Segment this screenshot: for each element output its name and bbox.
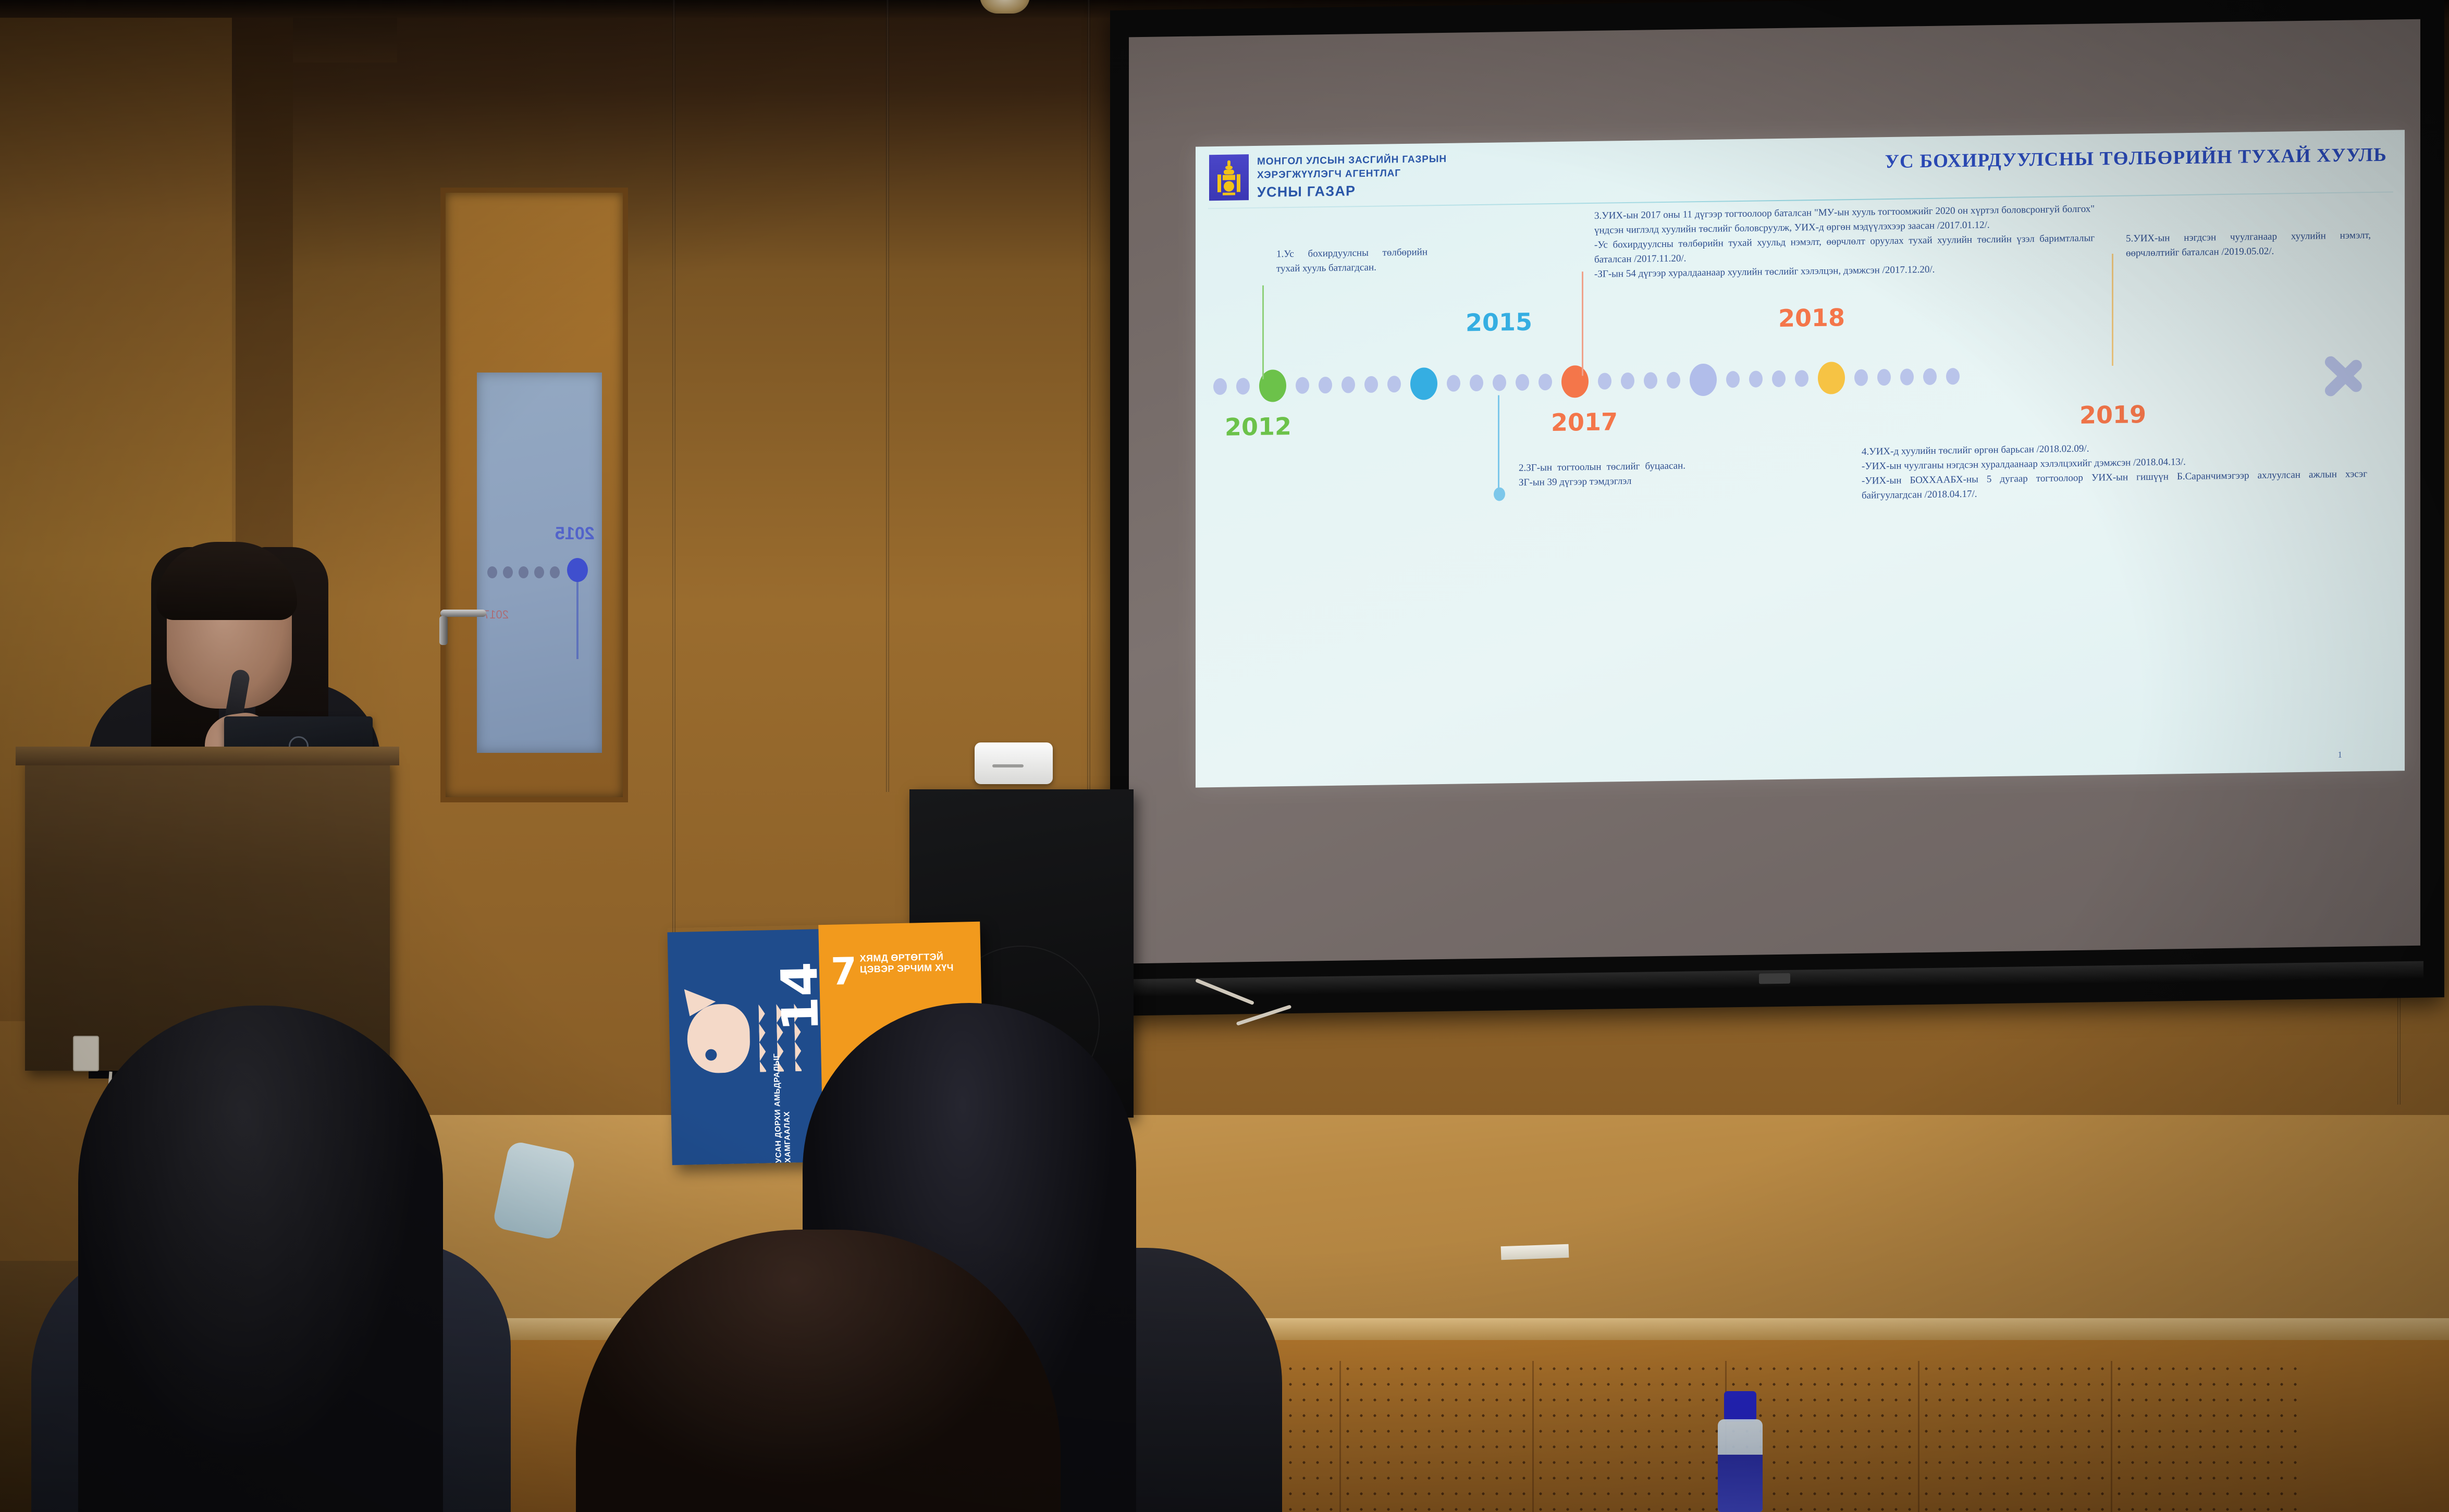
sdg-number-7: 7 [830,949,857,994]
timeline-filler-dot [1213,378,1227,395]
milestone-note-2017: 3.УИХ-ын 2017 оны 11 дүгээр тогтоолоор б… [1594,202,2095,281]
audience-member-head [78,1006,443,1512]
wall-seam [886,0,889,792]
screen-roller-knob[interactable] [1759,973,1790,984]
timeline-filler-dot [1387,376,1401,392]
acoustic-panel [1918,1361,2106,1512]
milestone-note-2012: 1.Ус бохирдуулсны төлбөрийн тухай хууль … [1276,245,1427,276]
acoustic-panel [2111,1361,2298,1512]
reflection-dots [487,566,560,578]
timeline-filler-dot [1236,378,1250,394]
timeline-milestone-dot-2015[interactable] [1410,367,1437,400]
reflection-year-red: 2017 [483,608,509,622]
timeline-year-2012: 2012 [1225,412,1291,441]
timeline-year-2019: 2019 [2079,400,2146,429]
timeline-filler-dot [1795,370,1808,387]
timeline-filler-dot [1877,369,1891,386]
door-handle[interactable] [440,610,486,617]
org-line-3: УСНЫ ГАЗАР [1257,182,1447,201]
reflection-stem [576,581,579,659]
door[interactable]: 2015 2017 [440,188,628,802]
slide-title: УС БОХИРДУУЛСНЫ ТӨЛБӨРИЙН ТУХАЙ ХУУЛЬ [1885,144,2387,173]
acoustic-panel [1532,1361,1720,1512]
bottle-label [1718,1455,1763,1512]
reflection-milestone-dot [567,558,588,582]
timeline-filler-dot [1749,370,1763,387]
timeline-filler-dot [1342,376,1355,393]
timeline-filler-dot [1447,375,1460,391]
milestone-note-2015: 2.ЗГ-ын тогтоолын төслийг буцаасан. ЗГ-ы… [1519,458,1685,490]
door-glass-panel: 2015 2017 [477,373,602,753]
timeline-filler-dot [1516,374,1529,391]
stem-2012 [1262,286,1264,379]
timeline-filler-dot [1493,374,1506,391]
timeline-filler-dot [1319,377,1332,393]
milestone-note-2018: 4.УИХ-д хуулийн төслийг өргөн барьсан /2… [1862,438,2367,503]
timeline-filler-dot [1726,371,1740,388]
timeline-arrow-icon [2323,343,2381,399]
organization-name: МОНГОЛ УЛСЫН ЗАСГИЙН ГАЗРЫН ХЭРЭГЖҮҮЛЭГЧ… [1257,153,1447,201]
stem-end-dot-2015 [1494,487,1505,501]
timeline-filler-dot [1364,376,1378,393]
timeline-filler-dot [1923,368,1937,385]
fish-icon [686,1003,750,1073]
timeline-year-2018: 2018 [1778,303,1845,332]
timeline-filler-dot [1470,375,1483,391]
bottle-cap [1724,1391,1756,1421]
conference-room-scene: 2015 2017 [0,0,2449,1512]
timeline-milestone-dot-2017[interactable] [1561,365,1589,398]
timeline-filler-dot [1772,370,1786,387]
timeline-filler-dot [1854,369,1868,386]
slide-page-number: 1 [2338,750,2343,760]
reflection-year: 2015 [555,524,595,544]
soyombo-logo-icon [1209,154,1249,201]
timeline-axis [1196,351,2405,404]
timeline-milestone-dot-2018[interactable] [1690,364,1717,396]
timeline-year-2015: 2015 [1466,308,1532,337]
door-latch[interactable] [439,616,448,645]
stem-2017 [1582,271,1583,376]
presentation-slide: МОНГОЛ УЛСЫН ЗАСГИЙН ГАЗРЫН ХЭРЭГЖҮҮЛЭГЧ… [1196,130,2405,787]
stem-2019 [2112,254,2113,366]
timeline-filler-dot [1539,374,1552,390]
timeline-milestone-dot-2019[interactable] [1818,362,1845,394]
timeline-filler-dot [1296,377,1309,394]
timeline-filler-dot [1621,373,1634,389]
sdg-panel-14: 14 УСАН ДОРХИ АМЬДРАЛЫГ ХАМГААЛАХ [667,929,823,1165]
timeline-filler-dot [1644,372,1657,389]
wall-outlet[interactable] [73,1036,99,1071]
wifi-access-point [975,742,1053,784]
timeline-filler-dot [1667,372,1680,389]
stem-2015 [1498,395,1499,494]
timeline-filler-dot [1900,368,1914,385]
org-line-1: МОНГОЛ УЛСЫН ЗАСГИЙН ГАЗРЫН [1257,153,1447,169]
projection-surface: МОНГОЛ УЛСЫН ЗАСГИЙН ГАЗРЫН ХЭРЭГЖҮҮЛЭГЧ… [1129,19,2420,964]
podium-top [16,747,399,765]
timeline-year-2017: 2017 [1551,407,1618,437]
acoustic-panel [1339,1361,1527,1512]
timeline-filler-dot [1598,373,1611,389]
projection-screen: МОНГОЛ УЛСЫН ЗАСГИЙН ГАЗРЫН ХЭРЭГЖҮҮЛЭГЧ… [1110,0,2444,1016]
reflection-text [493,685,597,696]
timeline-track [1213,361,2316,398]
org-line-2: ХЭРЭГЖҮҮЛЭГЧ АГЕНТЛАГ [1257,166,1447,182]
milestone-note-2019: 5.УИХ-ын нэгдсэн чуулганаар хуулийн нэмэ… [2126,228,2371,261]
timeline-filler-dot [1946,368,1960,385]
slide-header: МОНГОЛ УЛСЫН ЗАСГИЙН ГАЗРЫН ХЭРЭГЖҮҮЛЭГЧ… [1196,130,2405,209]
sdg-caption-7: ХЯМД ӨРТӨГТЭЙ ЦЭВЭР ЭРЧИМ ХҮЧ [859,951,969,975]
paper-sheet [1501,1244,1569,1260]
water-bottle[interactable] [1715,1391,1766,1512]
screen-roller-bar [1126,961,2423,997]
